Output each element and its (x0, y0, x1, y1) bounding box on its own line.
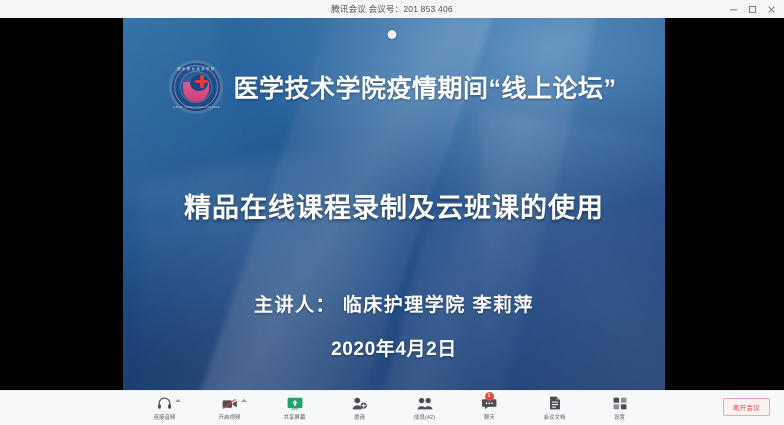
window-controls (725, 0, 780, 18)
slide-date: 2020年4月2日 (123, 334, 665, 361)
toolbar-label: 会议文档 (544, 413, 566, 421)
toolbar-handle-icon[interactable] (388, 30, 397, 39)
slide-presenter: 主讲人： 临床护理学院 李莉萍 (123, 290, 665, 317)
camera-off-icon (222, 395, 238, 410)
close-button[interactable] (763, 1, 780, 17)
toolbar-label: 成员(42) (414, 413, 435, 421)
window-title: 腾讯会议 会议号：201 853 406 (331, 3, 453, 15)
toolbar-item-members[interactable]: 成员(42) (404, 392, 446, 424)
toolbar-item-video[interactable]: 开启视频 (209, 392, 251, 424)
toolbar-label: 邀请 (354, 413, 365, 421)
document-icon (549, 395, 561, 410)
maximize-icon (748, 5, 757, 14)
meeting-toolbar: 连接音频 开启视频 (0, 390, 784, 425)
settings-icon (613, 395, 627, 410)
toolbar-label: 聊天 (484, 413, 495, 421)
toolbar-label: 连接音频 (154, 413, 176, 421)
chat-icon: 1 (482, 395, 498, 410)
slide-header: 丽水职业技术学院 LISHUI VOCATIONAL COLLEGE 医学技术学… (123, 62, 665, 112)
toolbar-item-share-screen[interactable]: 共享屏幕 (274, 392, 316, 424)
members-icon (417, 395, 433, 410)
title-bar: 腾讯会议 会议号：201 853 406 (0, 0, 784, 19)
chevron-up-icon[interactable] (241, 399, 247, 402)
logo-bottom-text: LISHUI VOCATIONAL COLLEGE (171, 106, 221, 109)
slide-main-title: 精品在线课程录制及云班课的使用 (123, 186, 665, 225)
college-logo-icon: 丽水职业技术学院 LISHUI VOCATIONAL COLLEGE (171, 62, 221, 112)
maximize-button[interactable] (744, 1, 761, 17)
toolbar-label: 开启视频 (219, 413, 241, 421)
slide-banner-title: 医学技术学院疫情期间“线上论坛” (233, 69, 616, 105)
invite-icon (352, 395, 367, 410)
presentation-slide: 丽水职业技术学院 LISHUI VOCATIONAL COLLEGE 医学技术学… (123, 18, 665, 390)
toolbar-items: 连接音频 开启视频 (0, 391, 784, 425)
toolbar-item-chat[interactable]: 1 聊天 (469, 392, 511, 424)
toolbar-item-audio[interactable]: 连接音频 (144, 392, 186, 424)
toolbar-item-settings[interactable]: 设置 (599, 392, 641, 424)
toolbar-label: 共享屏幕 (284, 413, 306, 421)
share-screen-icon (287, 395, 303, 410)
toolbar-item-invite[interactable]: 邀请 (339, 392, 381, 424)
logo-red-cross-icon (195, 75, 208, 88)
toolbar-label: 设置 (614, 413, 625, 421)
chat-unread-badge: 1 (485, 392, 494, 401)
shared-screen-stage[interactable]: 丽水职业技术学院 LISHUI VOCATIONAL COLLEGE 医学技术学… (0, 18, 784, 390)
minimize-icon (729, 5, 738, 14)
headset-icon (157, 395, 172, 410)
chevron-up-icon[interactable] (175, 399, 181, 402)
leave-meeting-button[interactable]: 离开会议 (723, 398, 770, 416)
tencent-meeting-window: 腾讯会议 会议号：201 853 406 (0, 0, 784, 424)
toolbar-item-document[interactable]: 会议文档 (534, 392, 576, 424)
close-icon (767, 5, 776, 14)
minimize-button[interactable] (725, 1, 742, 17)
